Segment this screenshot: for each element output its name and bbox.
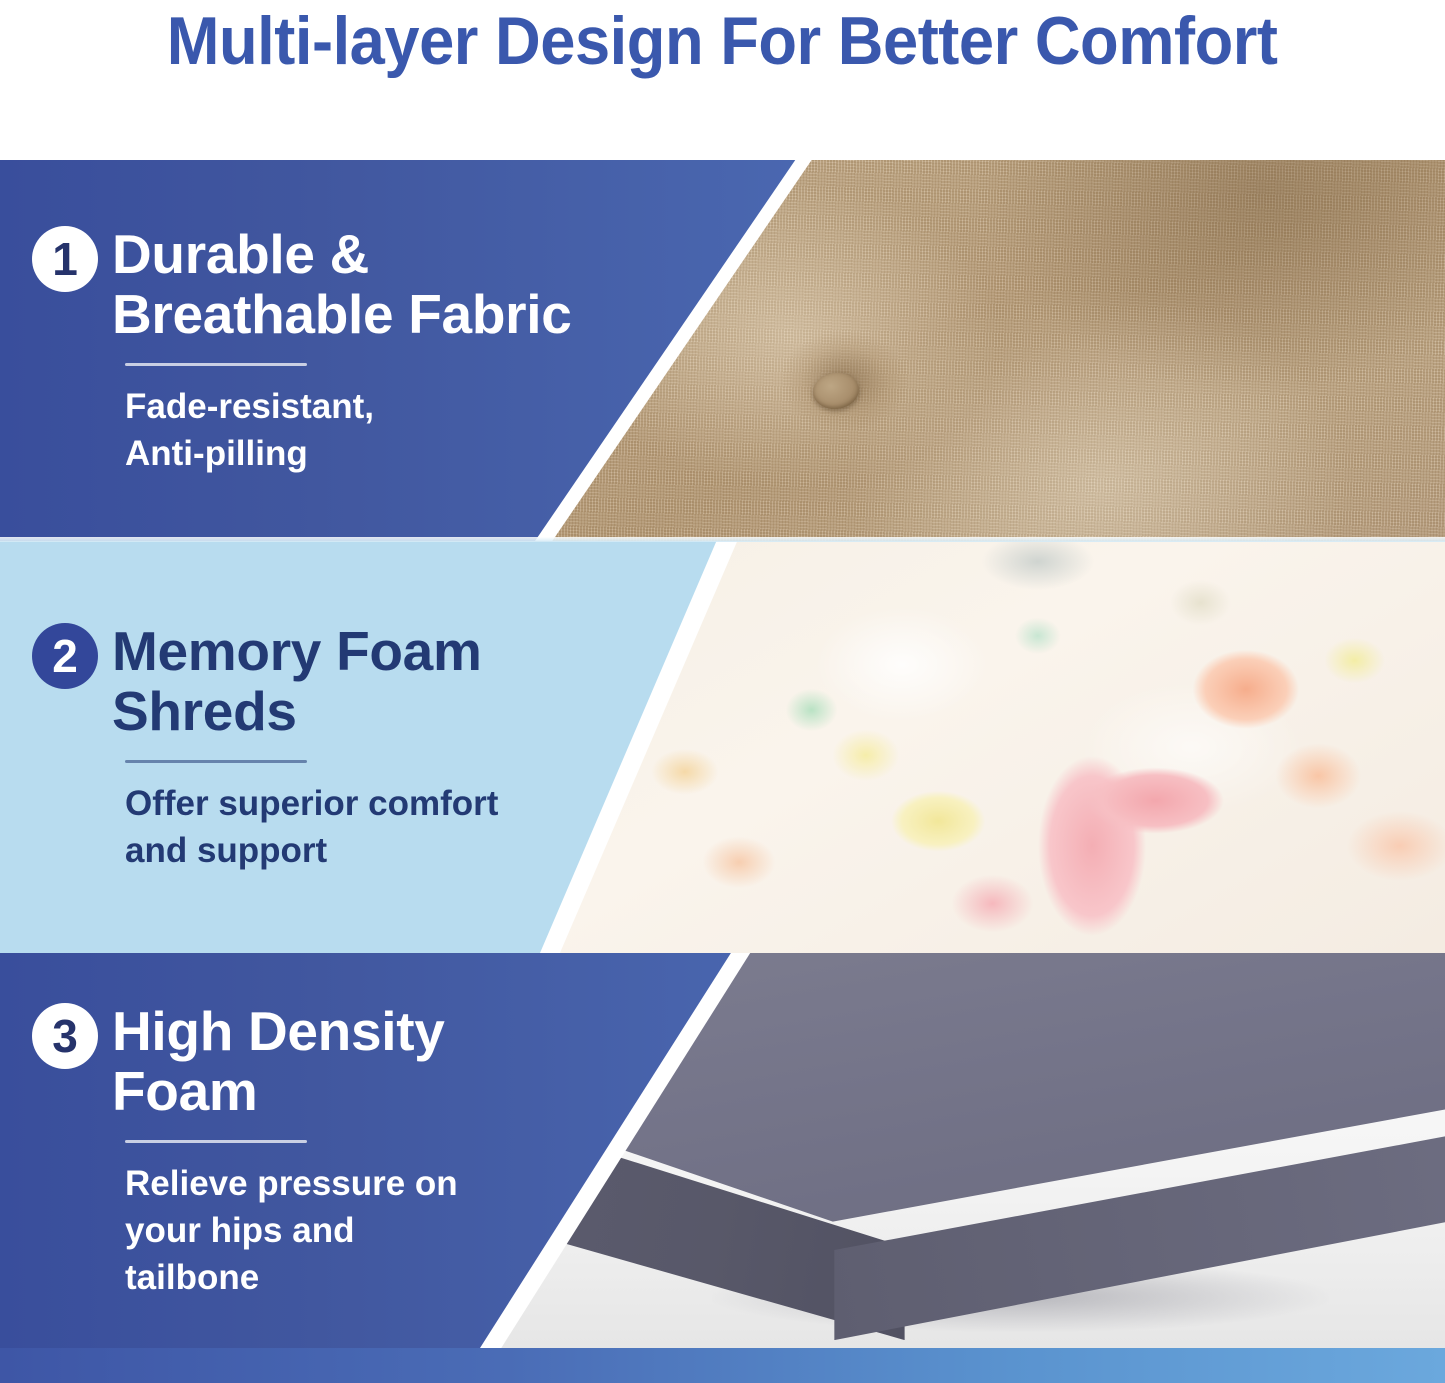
panel-3-headline: High Density Foam <box>112 1001 445 1121</box>
panel-1-subtext-line1: Fade-resistant, <box>125 383 572 430</box>
step-number-badge-1: 1 <box>32 226 98 292</box>
panel-1-headline: Durable & Breathable Fabric <box>112 224 572 344</box>
footer-gradient-strip <box>0 1348 1445 1383</box>
panel-1-subtext-line2: Anti-pilling <box>125 430 572 477</box>
title-band: Multi-layer Design For Better Comfort <box>0 0 1445 160</box>
panel-2-divider <box>125 760 307 763</box>
panel-3-subtext-line2: your hips and <box>125 1207 458 1254</box>
panel-2-headline: Memory Foam Shreds <box>112 621 482 741</box>
panel-1-2-separator <box>0 537 1445 542</box>
panel-3-subtext-line1: Relieve pressure on <box>125 1160 458 1207</box>
panel-3-headline-line1: High Density <box>112 1000 445 1062</box>
feature-panel-3: 3 High Density Foam Relieve pressure on … <box>0 953 1445 1348</box>
panel-3-subtext: Relieve pressure on your hips and tailbo… <box>125 1160 458 1301</box>
panel-3-heading-row: 3 High Density Foam <box>32 1001 458 1121</box>
step-number-badge-3: 3 <box>32 1003 98 1069</box>
panel-3-subtext-line3: tailbone <box>125 1254 458 1301</box>
step-number-badge-2: 2 <box>32 623 98 689</box>
panel-1-divider <box>125 363 307 366</box>
panel-3-content: 3 High Density Foam Relieve pressure on … <box>32 953 458 1348</box>
panel-1-heading-row: 1 Durable & Breathable Fabric <box>32 224 572 344</box>
panel-1-subtext: Fade-resistant, Anti-pilling <box>125 383 572 477</box>
panel-3-divider <box>125 1140 307 1143</box>
panel-2-content: 2 Memory Foam Shreds Offer superior comf… <box>32 541 498 953</box>
feature-panel-2: 2 Memory Foam Shreds Offer superior comf… <box>0 541 1445 953</box>
product-infographic: Multi-layer Design For Better Comfort 1 … <box>0 0 1445 1383</box>
panel-1-headline-line1: Durable & <box>112 223 369 285</box>
panel-3-headline-line2: Foam <box>112 1061 445 1121</box>
panel-2-subtext-line1: Offer superior comfort <box>125 780 498 827</box>
panel-2-subtext: Offer superior comfort and support <box>125 780 498 874</box>
panel-1-content: 1 Durable & Breathable Fabric Fade-resis… <box>32 160 572 541</box>
panel-2-subtext-line2: and support <box>125 827 498 874</box>
panel-2-headline-line1: Memory Foam <box>112 620 482 682</box>
feature-panel-1: 1 Durable & Breathable Fabric Fade-resis… <box>0 160 1445 541</box>
panel-3-photo-wedge <box>480 953 1445 1348</box>
panel-2-heading-row: 2 Memory Foam Shreds <box>32 621 498 741</box>
shredded-foam-texture <box>540 541 1445 953</box>
panel-1-photo-wedge <box>535 160 1445 541</box>
panel-1-headline-line2: Breathable Fabric <box>112 284 572 344</box>
panel-2-photo-wedge <box>540 541 1445 953</box>
foam-shreds-photo <box>540 541 1445 953</box>
panel-2-headline-line2: Shreds <box>112 681 482 741</box>
page-title: Multi-layer Design For Better Comfort <box>167 2 1278 80</box>
